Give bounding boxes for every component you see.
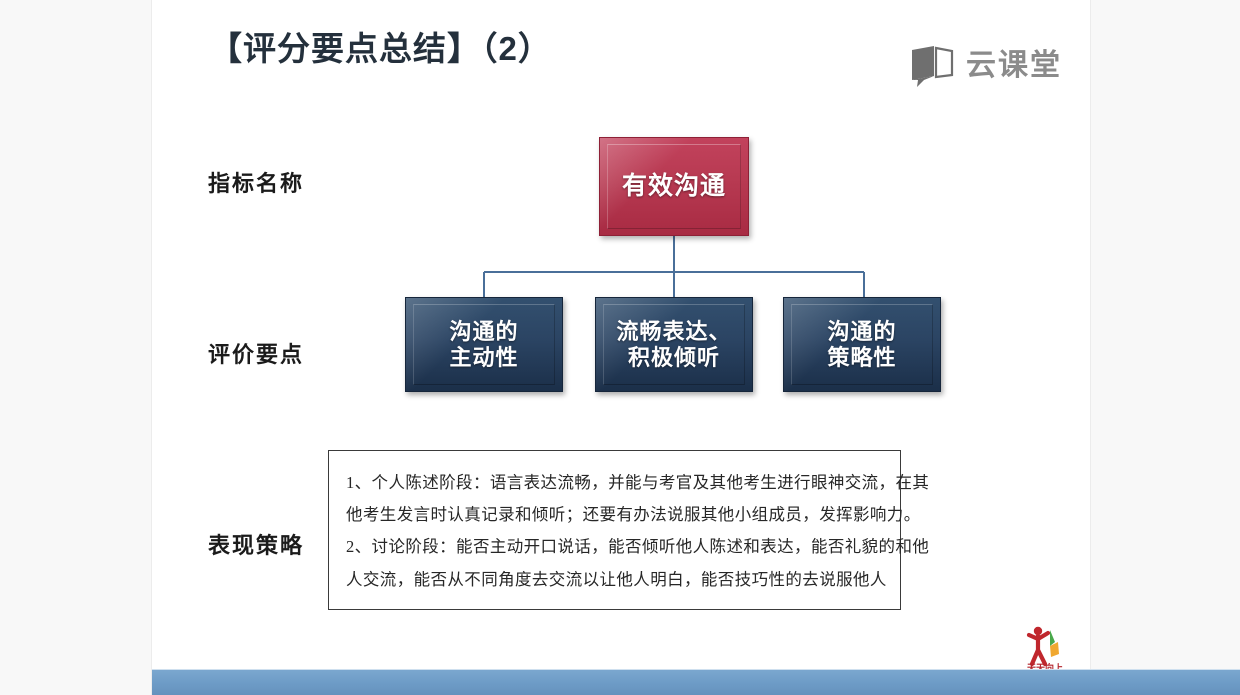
diagram-node-leaf-1: 流畅表达、 积极倾听 [595,297,753,392]
diagram-node-leaf-1-line2: 积极倾听 [628,345,720,370]
video-player-viewport: 【评分要点总结】（2） 云课堂 指标名称 评价要点 表现策略 [0,0,1240,695]
description-box: 1、个人陈述阶段：语言表达流畅，并能与考官及其他考生进行眼神交流，在其 他考生发… [328,450,901,610]
description-line: 人交流，能否从不同角度去交流以让他人明白，能否技巧性的去说服他人 [346,564,883,596]
description-line: 2、讨论阶段：能否主动开口说话，能否倾听他人陈述和表达，能否礼貌的和他 [346,531,883,563]
diagram-node-leaf-0-line1: 沟通的 [449,319,518,344]
diagram-node-leaf-2-text: 沟通的 策略性 [827,319,896,371]
diagram-node-leaf-0-text: 沟通的 主动性 [449,319,518,371]
player-control-bar[interactable] [152,669,1240,695]
diagram-node-leaf-0-line2: 主动性 [449,345,518,370]
diagram-node-leaf-0: 沟通的 主动性 [405,297,563,392]
diagram-node-leaf-2-line1: 沟通的 [827,319,896,344]
running-figure-icon [1014,624,1076,668]
diagram-node-leaf-1-line1: 流畅表达、 [616,319,731,344]
brand-logo: 云课堂 [908,44,1062,88]
diagram-node-root-label: 有效沟通 [622,172,726,202]
page-title: 【评分要点总结】（2） [209,22,552,70]
presentation-slide: 【评分要点总结】（2） 云课堂 指标名称 评价要点 表现策略 [152,0,1090,695]
row-label-strategy: 表现策略 [208,528,304,560]
brand-name: 云课堂 [966,51,1062,81]
description-line: 1、个人陈述阶段：语言表达流畅，并能与考官及其他考生进行眼神交流，在其 [346,467,883,499]
row-label-indicator: 指标名称 [208,166,304,198]
left-margin [0,0,152,695]
diagram-node-leaf-2-line2: 策略性 [827,345,896,370]
book-speech-bubble-icon [908,44,956,88]
row-label-criteria: 评价要点 [208,337,304,369]
right-margin [1090,0,1240,669]
diagram-node-leaf-2: 沟通的 策略性 [783,297,941,392]
description-line: 他考生发言时认真记录和倾听；还要有办法说服其他小组成员，发挥影响力。 [346,499,883,531]
diagram-node-root: 有效沟通 [599,137,749,236]
diagram-node-leaf-1-text: 流畅表达、 积极倾听 [616,319,731,371]
